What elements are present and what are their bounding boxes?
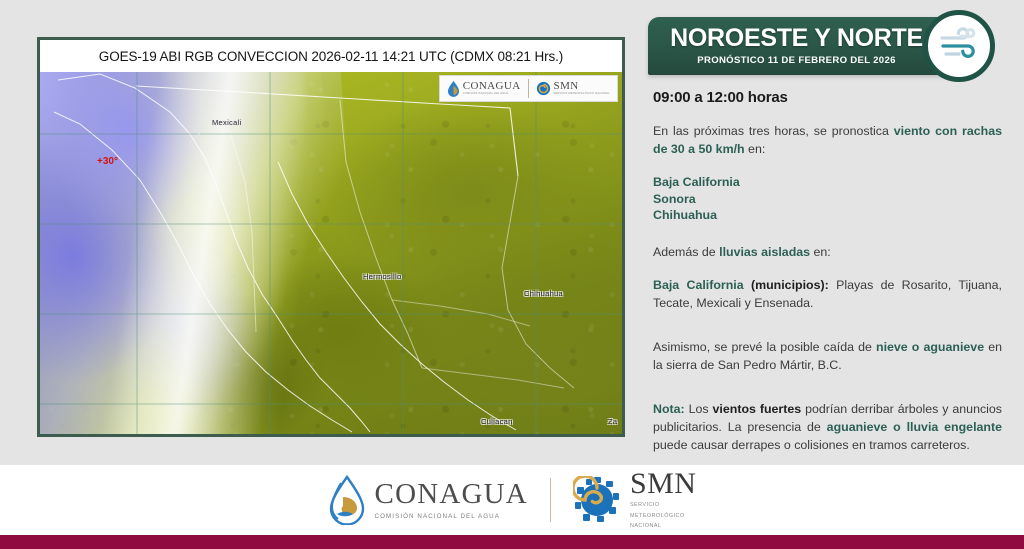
note-highlight-sleet: aguanieve o lluvia engelante — [827, 420, 1002, 434]
state-baja-california: Baja California — [653, 174, 1002, 191]
rain-intro-highlight: lluvias aisladas — [719, 245, 810, 259]
municipios-paragraph: Baja California (municipios): Playas de … — [653, 277, 1002, 313]
footer-logo-bar: CONAGUA COMISIÓN NACIONAL DEL AGUA — [0, 465, 1024, 535]
city-label-culiacan: Culiacan — [481, 417, 513, 426]
snow-highlight: nieve o aguanieve — [876, 340, 984, 354]
spacer-5 — [653, 375, 1002, 401]
spacer-4 — [653, 313, 1002, 339]
city-label-hermosillo: Hermosillo — [363, 272, 401, 281]
conagua-logo: CONAGUA COMISIÓN NACIONAL DEL AGUA — [328, 475, 528, 525]
city-label-partial: Za — [608, 417, 617, 426]
municipios-state: Baja California — [653, 278, 744, 292]
conagua-logo-small: CONAGUA COMISIÓN NACIONAL DEL AGUA — [447, 80, 521, 97]
forecast-panel: NOROESTE Y NORTE PRONÓSTICO 11 DE FEBRER… — [640, 0, 1024, 465]
temperature-annotation: +30° — [97, 156, 118, 167]
conagua-emblem-icon — [328, 475, 366, 525]
state-chihuahua: Chihuahua — [653, 207, 1002, 224]
smn-wordmark-small: SMN — [554, 81, 610, 92]
map-vector-overlay — [40, 72, 622, 434]
spacer-3 — [653, 262, 1002, 277]
satellite-title: GOES-19 ABI RGB CONVECCION 2026-02-11 14… — [99, 49, 563, 64]
smn-logo: SMN SERVICIO METEOROLÓGICO NACIONAL — [573, 469, 697, 531]
conagua-drop-icon — [447, 80, 460, 97]
forecast-body: En las próximas tres horas, se pronostic… — [653, 123, 1002, 455]
smn-emblem-icon — [573, 476, 621, 524]
city-label-mexicali: Mexicali — [212, 118, 242, 127]
footer-logo-divider — [550, 478, 551, 522]
smn-logo-small: SMN SERVICIO METEOROLÓGICO NACIONAL — [536, 81, 610, 96]
satellite-imagery: +30° Mexicali Hermosillo Chihuahua Culia… — [40, 72, 622, 434]
spacer-1 — [653, 159, 1002, 174]
smn-tagline-small: SERVICIO METEOROLÓGICO NACIONAL — [554, 92, 610, 95]
satellite-title-bar: GOES-19 ABI RGB CONVECCION 2026-02-11 14… — [40, 40, 622, 72]
logo-divider-small — [528, 79, 529, 98]
snow-prefix: Asimismo, se prevé la posible caída de — [653, 340, 876, 354]
conagua-tagline-small: COMISIÓN NACIONAL DEL AGUA — [463, 92, 521, 95]
smn-tagline-line3: NACIONAL — [630, 523, 697, 531]
satellite-agency-logos: CONAGUA COMISIÓN NACIONAL DEL AGUA SMN S… — [439, 75, 618, 102]
smn-spiral-icon — [536, 81, 551, 96]
forecast-date: PRONÓSTICO 11 DE FEBRERO DEL 2026 — [697, 55, 895, 66]
wind-intro-prefix: En las próximas tres horas, se pronostic… — [653, 124, 894, 138]
note-highlight-winds: vientos fuertes — [713, 402, 802, 416]
wind-icon — [937, 27, 981, 65]
region-banner: NOROESTE Y NORTE PRONÓSTICO 11 DE FEBRER… — [648, 17, 945, 75]
satellite-map-panel: GOES-19 ABI RGB CONVECCION 2026-02-11 14… — [37, 37, 625, 437]
wind-intro-suffix: en: — [745, 142, 766, 156]
conagua-wordmark-small: CONAGUA — [463, 81, 521, 92]
snow-paragraph: Asimismo, se prevé la posible caída de n… — [653, 339, 1002, 375]
note-part-3: puede causar derrapes o colisiones en tr… — [653, 438, 970, 452]
note-paragraph: Nota: Los vientos fuertes podrían derrib… — [653, 401, 1002, 455]
conagua-wordmark: CONAGUA — [375, 480, 528, 509]
city-label-chihuahua: Chihuahua — [524, 289, 563, 298]
rain-intro-prefix: Además de — [653, 245, 719, 259]
infographic-canvas: GOES-19 ABI RGB CONVECCION 2026-02-11 14… — [0, 0, 1024, 549]
rain-intro-paragraph: Además de lluvias aisladas en: — [653, 244, 1002, 262]
wind-intro-paragraph: En las próximas tres horas, se pronostic… — [653, 123, 1002, 159]
bottom-accent-bar — [0, 535, 1024, 549]
spacer-2 — [653, 224, 1002, 244]
note-label: Nota: — [653, 402, 685, 416]
rain-intro-suffix: en: — [810, 245, 831, 259]
municipios-label: (municipios): — [744, 278, 829, 292]
smn-wordmark: SMN — [630, 469, 697, 499]
conagua-tagline: COMISIÓN NACIONAL DEL AGUA — [375, 513, 528, 520]
wind-icon-badge — [923, 10, 995, 82]
smn-tagline-line2: METEOROLÓGICO — [630, 513, 697, 521]
smn-tagline-line1: SERVICIO — [630, 502, 697, 510]
note-part-1: Los — [685, 402, 713, 416]
state-sonora: Sonora — [653, 191, 1002, 208]
region-title: NOROESTE Y NORTE — [670, 26, 923, 51]
time-range-label: 09:00 a 12:00 horas — [653, 89, 788, 106]
